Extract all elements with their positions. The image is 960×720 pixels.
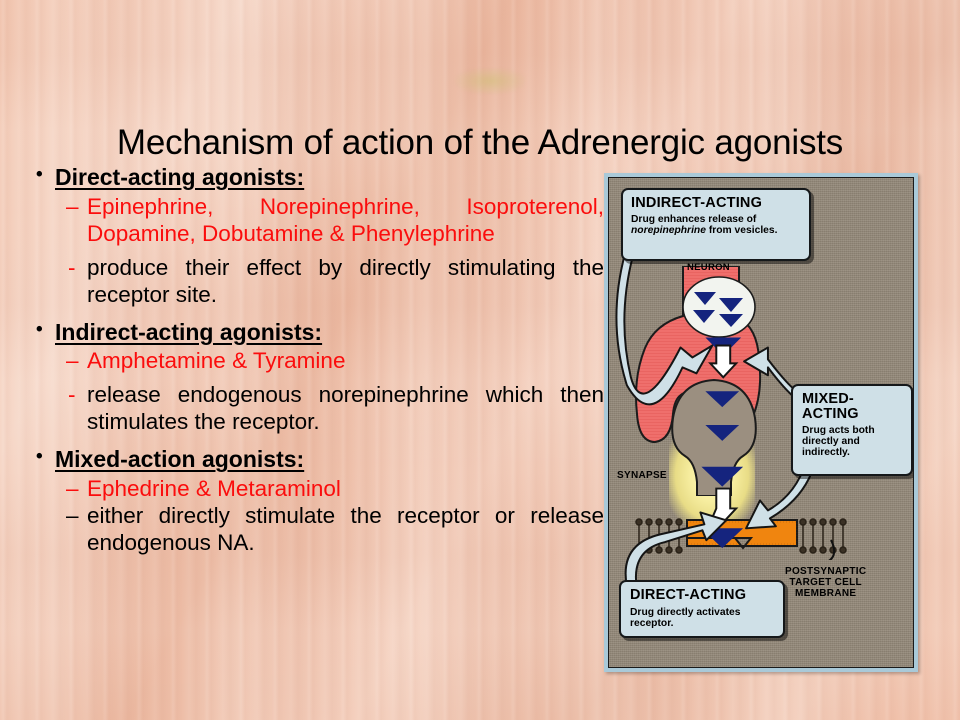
dash-glyph: -: [68, 254, 76, 281]
bullet-sub-direct-effect: -produce their effect by directly stimul…: [18, 254, 604, 308]
callout-direct-title: DIRECT-ACTING: [630, 587, 777, 603]
dash-glyph: -: [68, 381, 76, 408]
synaptic-vesicle: [681, 276, 757, 338]
bullet-sub-mixed-effect: –either directly stimulate the receptor …: [18, 502, 604, 556]
label-postsynaptic-line3: MEMBRANE: [795, 588, 856, 599]
callout-mixed-acting: MIXED- ACTING Drug acts both directly an…: [791, 384, 913, 476]
callout-mixed-body: Drug acts both directly and indirectly.: [802, 425, 905, 458]
dash-glyph: –: [66, 475, 79, 502]
callout-indirect-body-part1: Drug enhances release of: [631, 214, 756, 225]
dash-glyph: –: [66, 502, 79, 529]
spacer: [18, 374, 604, 381]
callout-indirect-title: INDIRECT-ACTING: [631, 195, 802, 211]
bullet-glyph: •: [36, 163, 43, 187]
label-neuron: NEURON: [687, 262, 730, 273]
dash-glyph: –: [66, 347, 79, 374]
bullet-glyph: •: [36, 318, 43, 342]
bullet-sub-indirect-effect: -release endogenous norepinephrine which…: [18, 381, 604, 435]
slide-canvas: Mechanism of action of the Adrenergic ag…: [0, 0, 960, 720]
label-synapse: SYNAPSE: [617, 470, 667, 481]
synapse-diagram-figure: NEURON SYNAPSE POSTSYNAPTIC TARGET CELL …: [604, 173, 918, 672]
postsynaptic-membrane: [631, 516, 851, 560]
bullet-sub-direct-drugs: –Epinephrine, Norepinephrine, Isoprotere…: [18, 193, 604, 247]
callout-direct-acting: DIRECT-ACTING Drug directly activates re…: [619, 580, 785, 638]
bullet-glyph: •: [36, 445, 43, 469]
spacer: [18, 435, 604, 446]
bullet-heading-mixed-action: •Mixed-action agonists:: [18, 446, 604, 473]
bullet-sub-indirect-drugs: –Amphetamine & Tyramine: [18, 347, 604, 374]
dash-glyph: –: [66, 193, 79, 220]
bullet-heading-indirect-acting: •Indirect-acting agonists:: [18, 319, 604, 346]
callout-indirect-body-italic: norepinephrine: [631, 225, 706, 236]
background-watermark: [455, 68, 525, 94]
callout-direct-body: Drug directly activates receptor.: [630, 607, 777, 629]
page-title: Mechanism of action of the Adrenergic ag…: [0, 123, 960, 163]
callout-indirect-body-part2: from vesicles.: [706, 225, 778, 236]
presynaptic-bouton: [657, 378, 771, 496]
spacer: [18, 247, 604, 254]
bullet-sub-mixed-drugs: –Ephedrine & Metaraminol: [18, 475, 604, 502]
callout-mixed-title-line1: MIXED-: [802, 392, 905, 407]
callout-mixed-title-line2: ACTING: [802, 407, 905, 422]
callout-indirect-body: Drug enhances release of norepinephrine …: [631, 214, 802, 236]
label-postsynaptic-membrane: POSTSYNAPTIC TARGET CELL MEMBRANE: [785, 566, 866, 600]
label-postsynaptic-line1: POSTSYNAPTIC: [785, 566, 866, 577]
spacer: [18, 308, 604, 319]
callout-indirect-acting: INDIRECT-ACTING Drug enhances release of…: [621, 188, 811, 261]
label-postsynaptic-line2: TARGET CELL: [789, 577, 862, 588]
slide-body-content: •Direct-acting agonists: –Epinephrine, N…: [18, 164, 604, 556]
bullet-heading-direct-acting: •Direct-acting agonists:: [18, 164, 604, 191]
diagram-panel: NEURON SYNAPSE POSTSYNAPTIC TARGET CELL …: [608, 177, 914, 668]
